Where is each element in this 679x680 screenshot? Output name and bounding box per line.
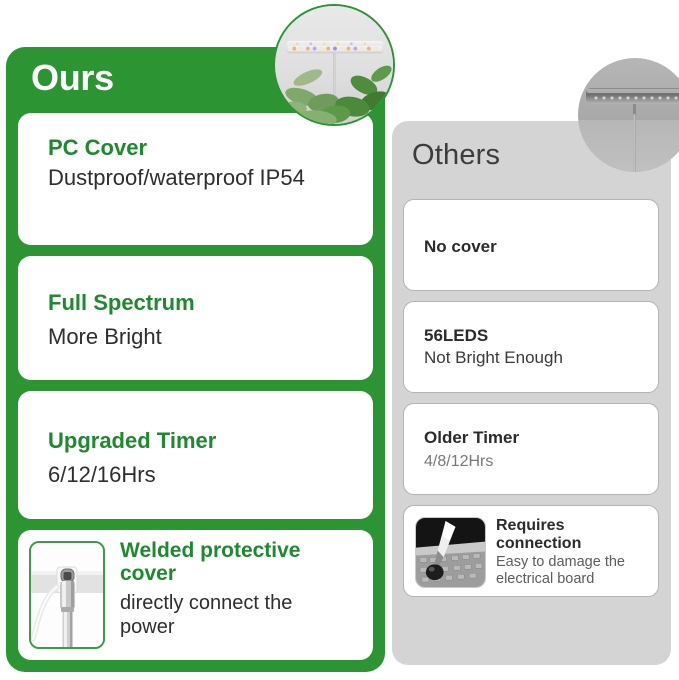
screwdriver-board-thumbnail	[415, 517, 486, 588]
others-card-subtext: Easy to damage the electrical board	[496, 554, 651, 588]
others-card-heading: 56LEDS	[424, 326, 488, 346]
others-feature-card: Older Timer 4/8/12Hrs	[403, 403, 659, 495]
others-panel: Others No cover 56LEDS Not Bright Enough…	[392, 121, 671, 665]
ours-feature-card: Upgraded Timer 6/12/16Hrs	[18, 391, 373, 519]
ours-card-subtext: More Bright	[48, 324, 162, 351]
others-feature-card: 56LEDS Not Bright Enough	[403, 301, 659, 393]
ours-panel: Ours PC Cover Dustproof/waterproof IP54 …	[6, 47, 385, 672]
welded-pole-thumbnail	[29, 541, 105, 649]
others-feature-card: Requires connection Easy to damage the e…	[403, 505, 659, 597]
others-card-subtext: 4/8/12Hrs	[424, 452, 493, 471]
others-column-title: Others	[412, 139, 500, 172]
ours-card-heading: PC Cover	[48, 136, 147, 160]
ours-card-subtext: 6/12/16Hrs	[48, 462, 156, 489]
ours-feature-card: PC Cover Dustproof/waterproof IP54	[18, 113, 373, 245]
others-feature-card: No cover	[403, 199, 659, 291]
ours-feature-card: Welded protective cover directly connect…	[18, 530, 373, 660]
grow-light-with-plants-photo	[273, 4, 395, 126]
others-card-heading: No cover	[424, 237, 497, 257]
ours-card-subtext: Dustproof/waterproof IP54	[48, 165, 305, 192]
ours-column-title: Ours	[31, 57, 114, 99]
ours-card-heading: Upgraded Timer	[48, 429, 216, 453]
others-card-subtext: Not Bright Enough	[424, 348, 563, 368]
ours-feature-card: Full Spectrum More Bright	[18, 256, 373, 380]
ours-card-heading: Full Spectrum	[48, 291, 195, 315]
others-card-heading: Requires connection	[496, 517, 646, 554]
ours-card-subtext: directly connect the power	[120, 592, 350, 639]
others-card-heading: Older Timer	[424, 428, 519, 448]
ours-card-heading: Welded protective cover	[120, 540, 355, 585]
